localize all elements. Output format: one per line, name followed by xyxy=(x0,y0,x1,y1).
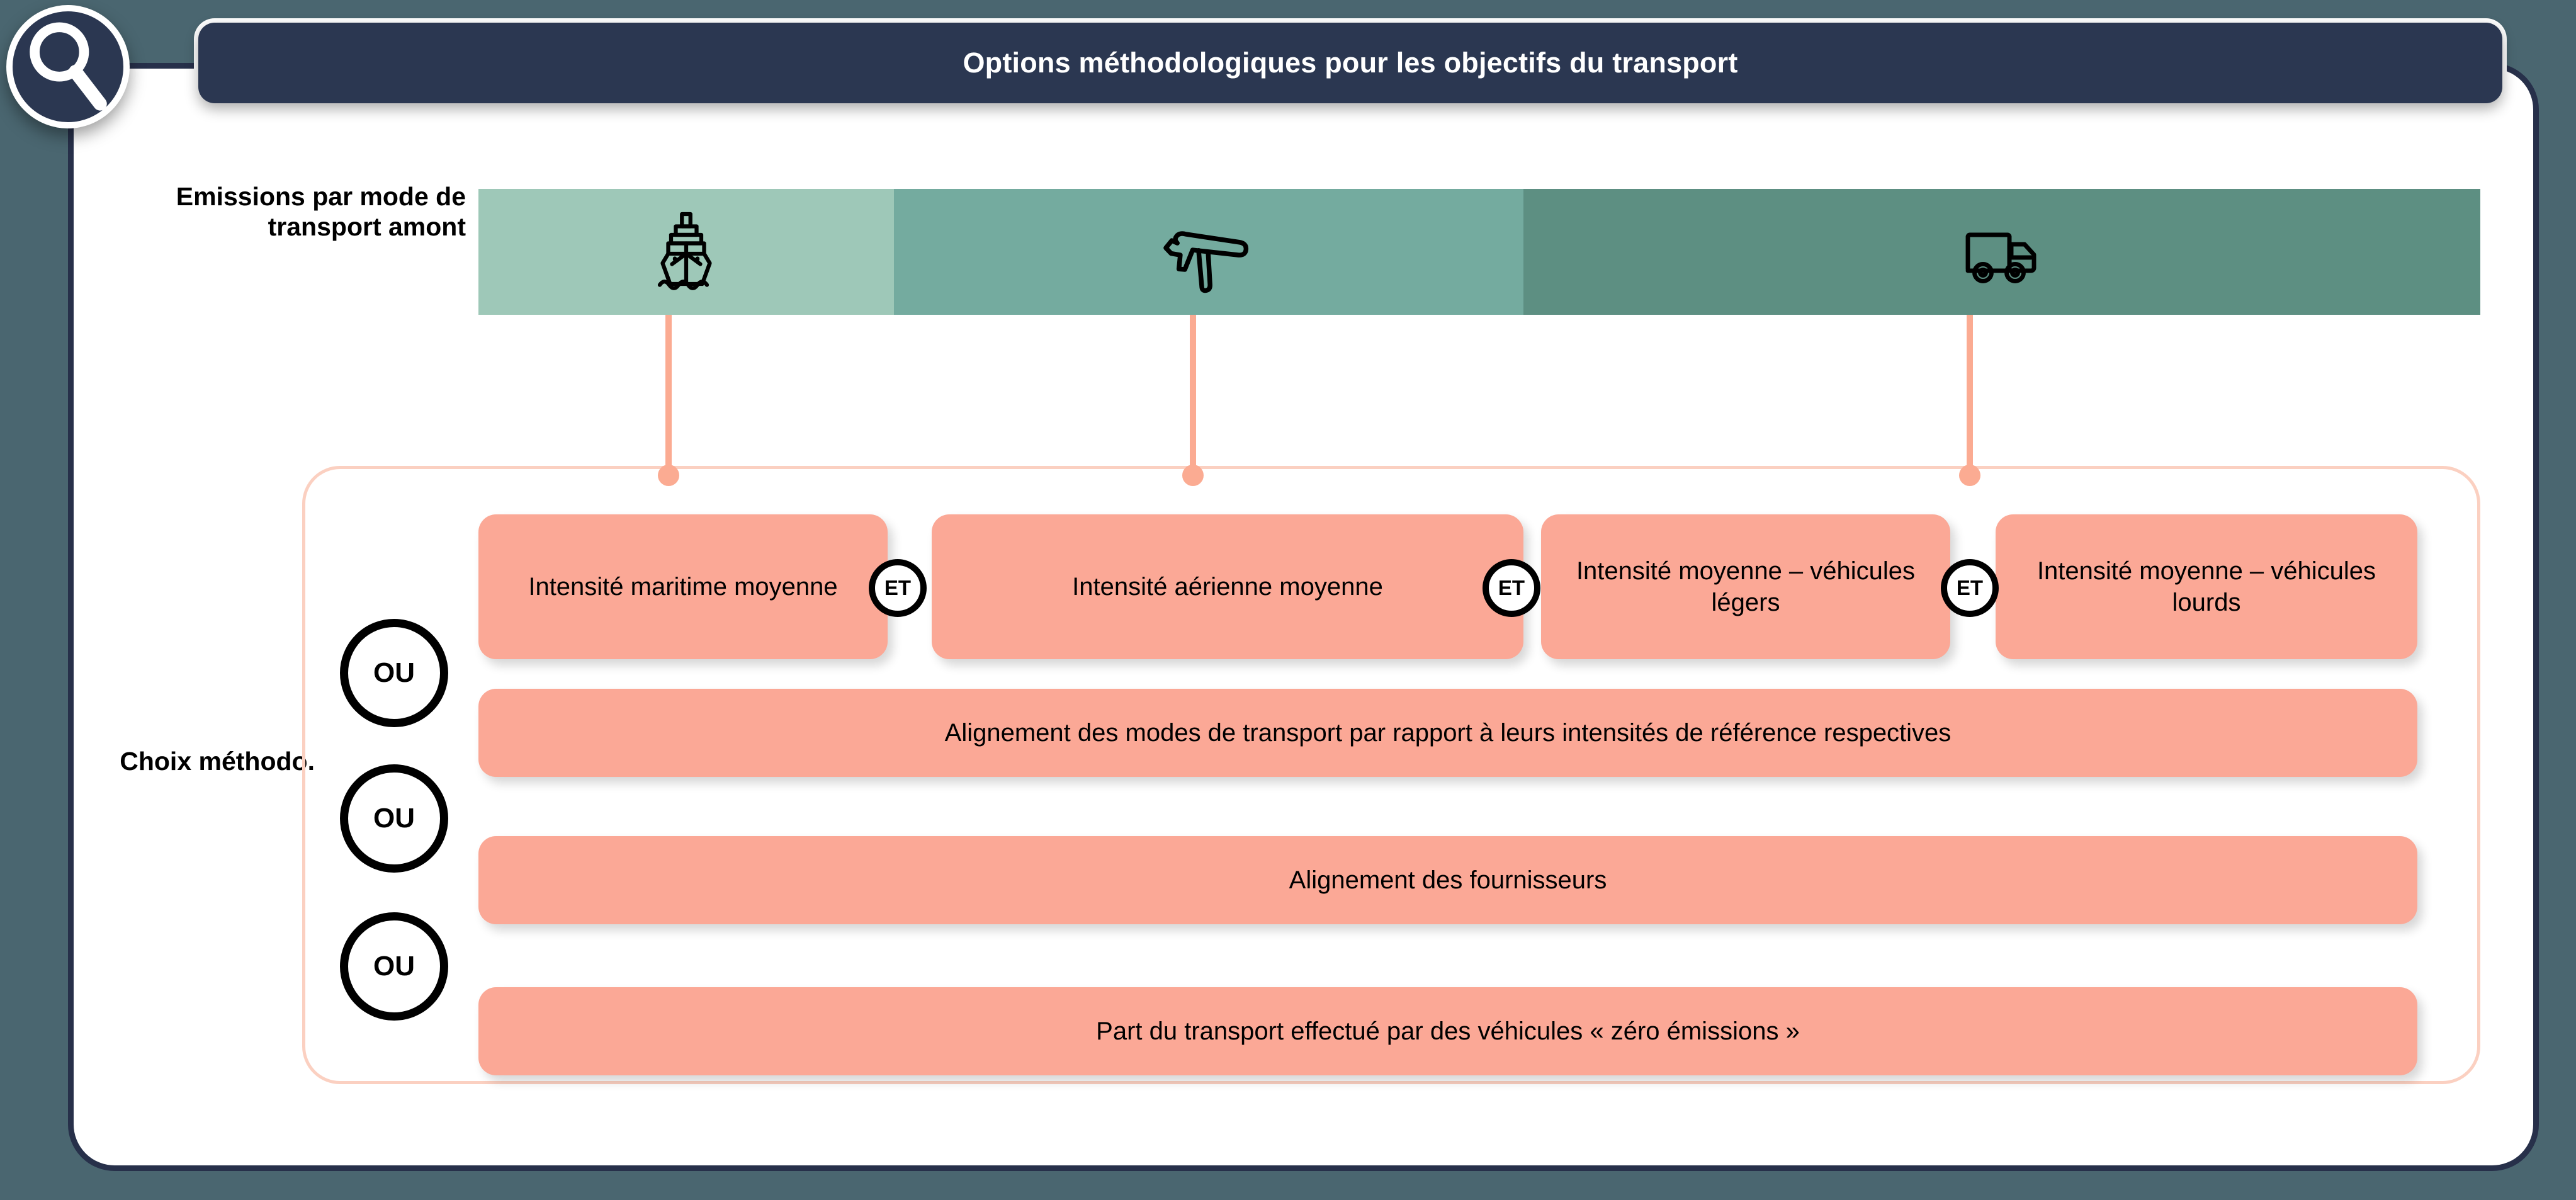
et-label: ET xyxy=(1957,576,1983,600)
intensity-box-label: Intensité moyenne – véhicules lourds xyxy=(2012,555,2401,618)
method-box-label: Part du transport effectué par des véhic… xyxy=(1096,1016,1800,1047)
connector-dot-aerien xyxy=(1182,465,1204,486)
connector-dot-routier xyxy=(1959,465,1980,486)
ou-connector-1: OU xyxy=(340,619,448,727)
ou-label: OU xyxy=(373,657,415,689)
et-connector-3: ET xyxy=(1941,559,1999,617)
connector-line-maritime xyxy=(665,315,672,475)
connector-line-routier xyxy=(1967,315,1973,475)
intensity-box-label: Intensité moyenne – véhicules légers xyxy=(1557,555,1934,618)
intensity-box-maritime[interactable]: Intensité maritime moyenne xyxy=(478,514,888,659)
intensity-box-vehicules-legers[interactable]: Intensité moyenne – véhicules légers xyxy=(1541,514,1950,659)
magnifying-glass-badge xyxy=(6,5,130,128)
transport-mode-band xyxy=(478,189,2480,315)
title-bar: Options méthodologiques pour les objecti… xyxy=(198,23,2502,103)
intensity-box-label: Intensité aérienne moyenne xyxy=(1072,571,1383,603)
ship-icon xyxy=(639,205,733,299)
mode-segment-maritime[interactable] xyxy=(478,189,894,315)
intensity-box-label: Intensité maritime moyenne xyxy=(528,571,837,603)
et-connector-1: ET xyxy=(869,559,927,617)
method-box-vehicules-zero-emissions[interactable]: Part du transport effectué par des véhic… xyxy=(478,987,2417,1075)
diagram-canvas: Options méthodologiques pour les objecti… xyxy=(0,0,2576,1200)
ou-label: OU xyxy=(373,803,415,834)
page-title: Options méthodologiques pour les objecti… xyxy=(963,47,1737,79)
method-box-alignement-fournisseurs[interactable]: Alignement des fournisseurs xyxy=(478,836,2417,924)
truck-icon xyxy=(1955,205,2049,299)
magnifying-glass-icon xyxy=(6,5,130,128)
et-connector-2: ET xyxy=(1483,559,1540,617)
et-label: ET xyxy=(884,576,911,600)
et-label: ET xyxy=(1498,576,1525,600)
ou-connector-2: OU xyxy=(340,764,448,873)
ou-connector-3: OU xyxy=(340,912,448,1021)
connector-dot-maritime xyxy=(658,465,679,486)
method-box-label: Alignement des modes de transport par ra… xyxy=(945,717,1952,749)
intensity-box-vehicules-lourds[interactable]: Intensité moyenne – véhicules lourds xyxy=(1996,514,2417,659)
ou-label: OU xyxy=(373,951,415,982)
methodo-row-label: Choix méthodo. xyxy=(113,746,315,776)
connector-line-aerien xyxy=(1190,315,1196,475)
plane-icon xyxy=(1161,205,1256,299)
mode-segment-aerien[interactable] xyxy=(894,189,1523,315)
method-box-label: Alignement des fournisseurs xyxy=(1289,864,1607,896)
mode-segment-routier[interactable] xyxy=(1523,189,2480,315)
intensity-box-aerien[interactable]: Intensité aérienne moyenne xyxy=(932,514,1523,659)
method-box-alignement-modes[interactable]: Alignement des modes de transport par ra… xyxy=(478,689,2417,777)
emissions-row-label: Emissions par mode de transport amont xyxy=(113,181,466,242)
